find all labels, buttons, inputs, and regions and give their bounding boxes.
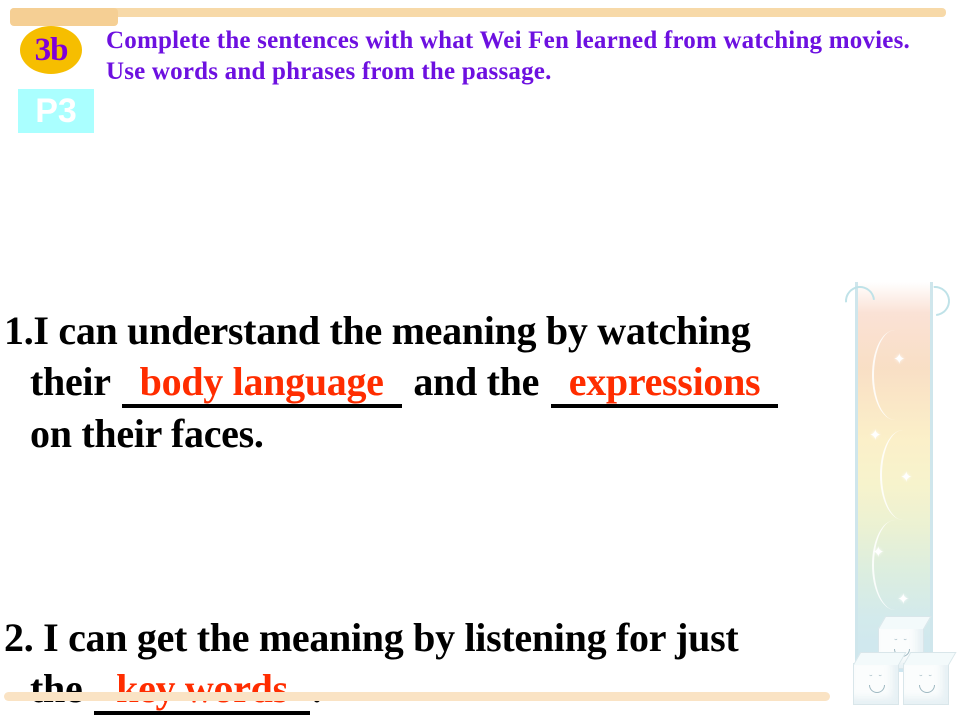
- item-number: 2.: [4, 615, 33, 660]
- item-text: on their faces.: [30, 411, 264, 456]
- bottom-decorative-bar: [4, 692, 830, 701]
- item-text: and the: [404, 359, 549, 404]
- item-text: I can understand the meaning by watching: [33, 308, 750, 353]
- page-number-badge: P3: [18, 89, 94, 133]
- item-text: their: [30, 359, 120, 404]
- list-item: 1.I can understand the meaning by watchi…: [4, 305, 954, 459]
- item-text: I can get the meaning by listening for j…: [43, 615, 738, 660]
- item-text: [33, 615, 43, 660]
- top-decorative-bar-accent: [10, 8, 118, 26]
- exercise-list: 1.I can understand the meaning by watchi…: [4, 152, 954, 720]
- item-number: 1.: [4, 308, 33, 353]
- top-decorative-bar: [10, 8, 946, 17]
- exercise-number-badge: 3b: [20, 26, 82, 74]
- answer-blank-expressions[interactable]: expressions: [551, 361, 779, 408]
- slide-canvas: ✦ ✦ ✦ ✦ ✦ ˘ ˘ ˘ ˘ ˘ ˘ 3b P3 Complete the…: [0, 0, 960, 720]
- answer-blank-body-language[interactable]: body language: [122, 361, 402, 408]
- instruction-text: Complete the sentences with what Wei Fen…: [106, 25, 952, 87]
- item-text: the: [30, 666, 92, 711]
- item-text: .: [312, 666, 322, 711]
